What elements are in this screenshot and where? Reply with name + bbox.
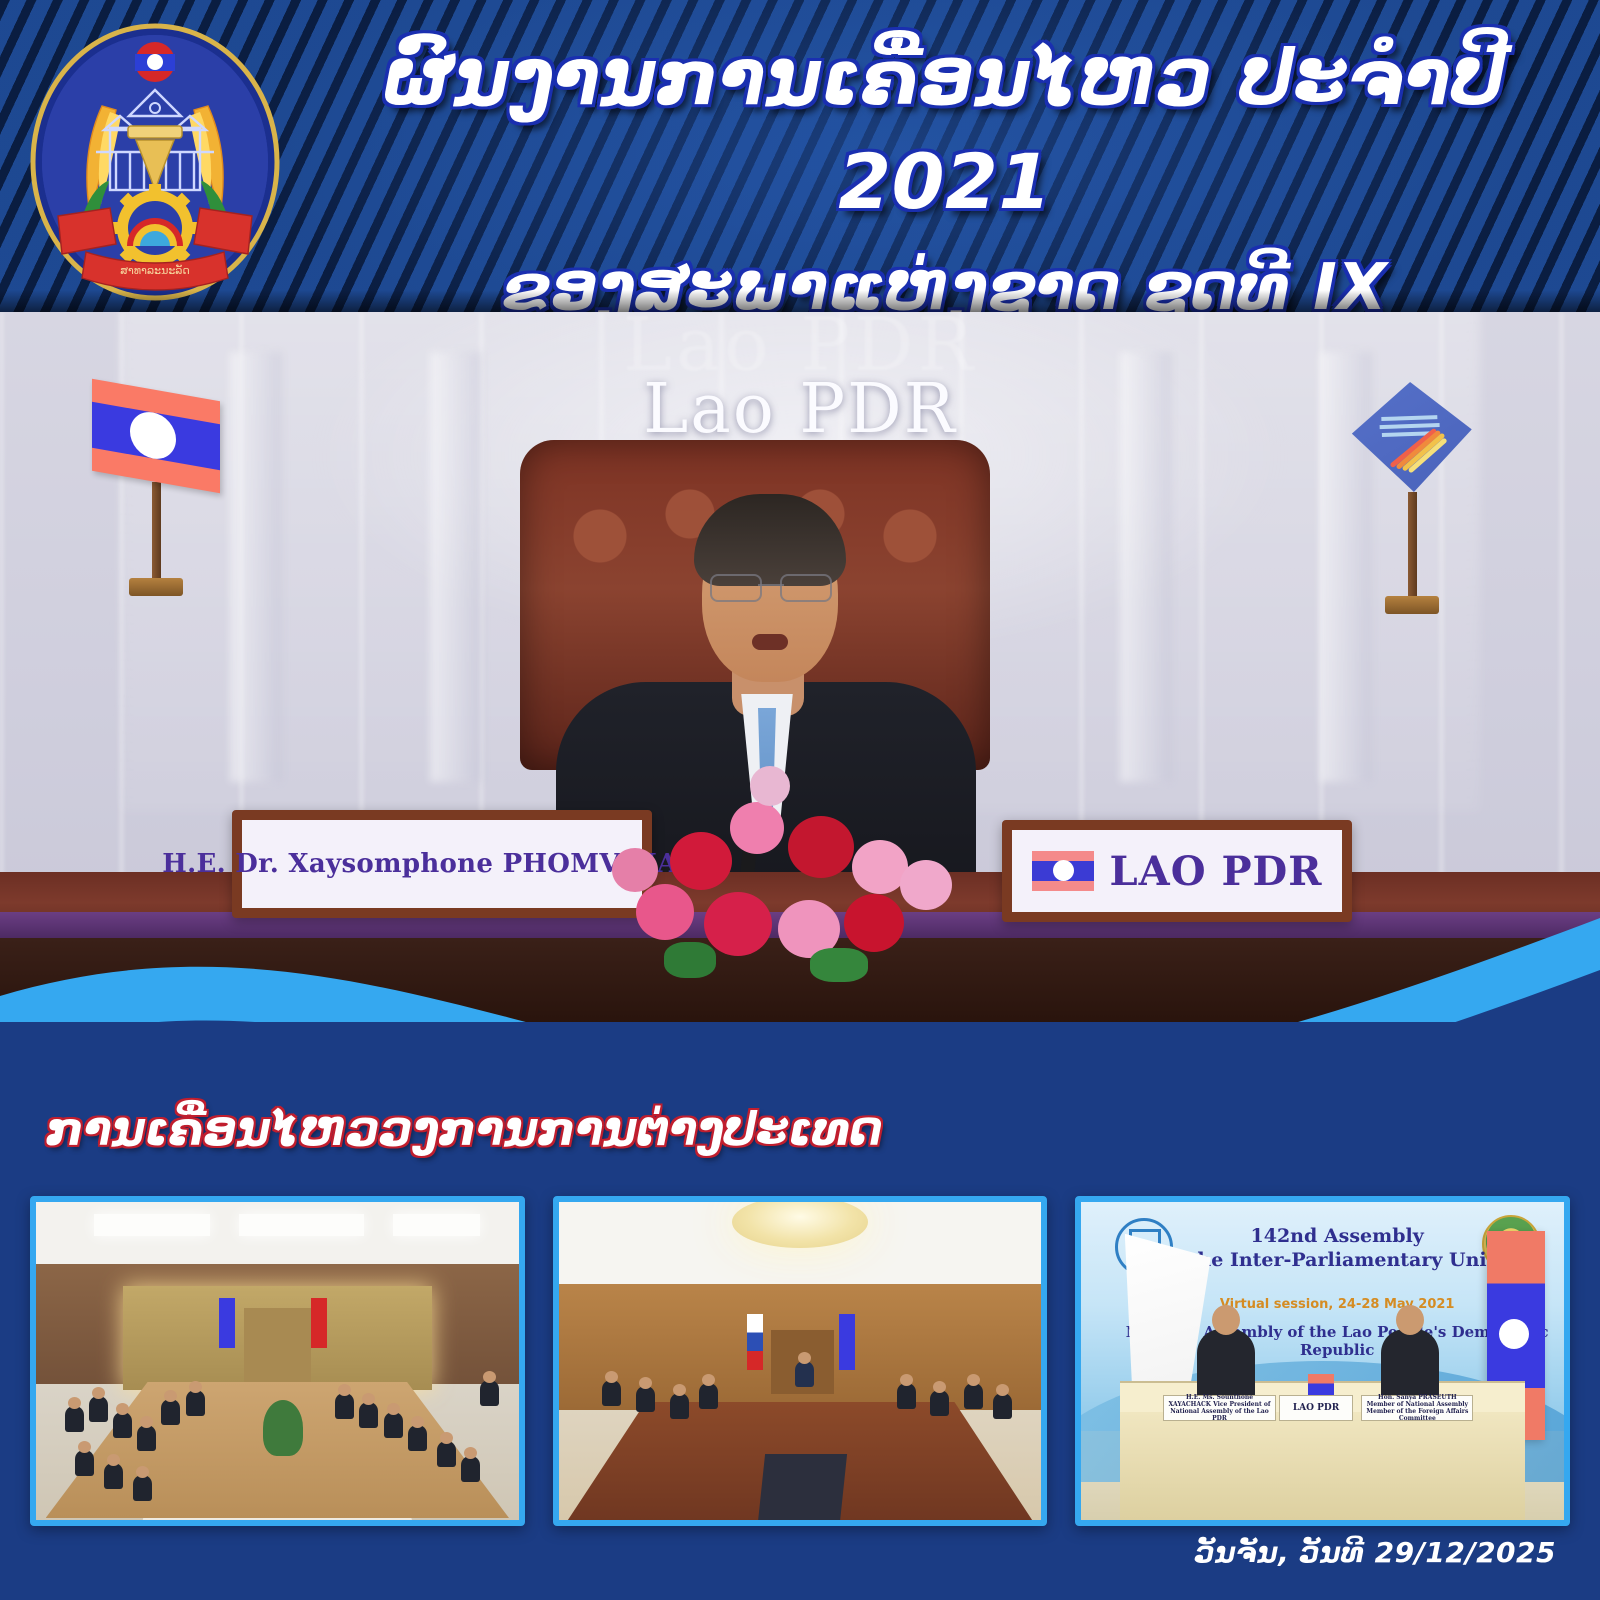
header-bottom-shadow <box>0 290 1600 312</box>
ipu-title-line1: 142nd Assembly <box>1159 1224 1516 1248</box>
aipa-flag-cloth <box>1350 380 1474 494</box>
section-heading: ການເຄື່ອນໄຫວວງການການຕ່າງປະເທດ <box>46 1102 946 1156</box>
lao-national-emblem-icon: ສາທາລະນະລັດ <box>24 16 286 304</box>
ipu-nameplate-left: H.E. Ms. Sounthone XAYACHACK Vice Presid… <box>1163 1395 1275 1421</box>
flag-pole <box>152 482 161 578</box>
country-sign-text: LAO PDR <box>1110 848 1323 895</box>
poster-header: ສາທາລະນະລັດ ຜົນງານການເຄື່ອນໄຫວ ປະຈຳປີ 20… <box>0 0 1600 312</box>
flag-base <box>129 578 183 596</box>
lao-table-flag <box>92 390 220 596</box>
thumbnail-ipu-142nd-assembly[interactable]: 142nd Assembly of the Inter-Parliamentar… <box>1075 1196 1570 1526</box>
thumbnail-meeting-russia-lao[interactable] <box>553 1196 1048 1526</box>
ipu-banner-title: 142nd Assembly of the Inter-Parliamentar… <box>1159 1224 1516 1272</box>
flag-pole <box>1408 492 1417 596</box>
aipa-table-flag <box>1352 382 1472 614</box>
speaker-glasses <box>708 574 834 600</box>
ipu-nameplate-right: Hon. Sanya PRASEUTH Member of National A… <box>1361 1395 1473 1421</box>
footer-date: ວັນຈັນ, ວັນທີ 29/12/2025 <box>1195 1536 1556 1569</box>
ipu-title-line2: of the Inter-Parliamentary Union <box>1159 1248 1516 1272</box>
lao-flag-icon <box>1032 851 1094 891</box>
thumbnail-bilateral-meeting-vietnam[interactable] <box>30 1196 525 1526</box>
lao-flag-cloth <box>92 379 220 494</box>
thumbnail-gallery: 142nd Assembly of the Inter-Parliamentar… <box>30 1196 1570 1526</box>
flag-base <box>1385 596 1439 614</box>
poster-root: ສາທາລະນະລັດ ຜົນງານການເຄື່ອນໄຫວ ປະຈຳປີ 20… <box>0 0 1600 1600</box>
speaker-hair <box>694 494 846 586</box>
ipu-nameplate-center: LAO PDR <box>1279 1395 1353 1421</box>
header-titles: ຜົນງານການເຄື່ອນໄຫວ ປະຈຳປີ 2021 ຂອງສະພາແຫ… <box>300 26 1590 312</box>
speaker-mouth <box>752 634 788 650</box>
poster-title-line1: ຜົນງານການເຄື່ອນໄຫວ ປະຈຳປີ 2021 <box>300 26 1590 234</box>
svg-text:ສາທາລະນະລັດ: ສາທາລະນະລັດ <box>120 264 190 277</box>
ipu-banner-subtitle: Virtual session, 24-28 May 2021 <box>1159 1297 1516 1312</box>
